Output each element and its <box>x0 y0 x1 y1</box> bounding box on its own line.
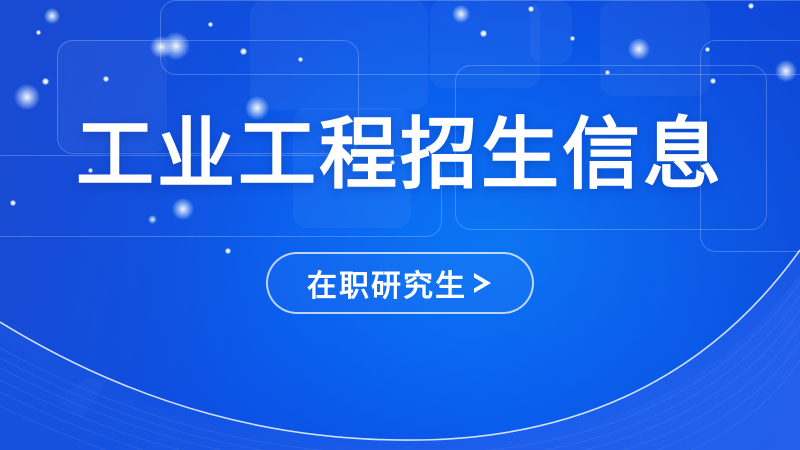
glow-dot <box>452 5 470 23</box>
cta-button-label: 在职研究生 <box>307 261 467 305</box>
glow-dot <box>148 215 157 224</box>
cta-button[interactable]: 在职研究生 <box>266 252 534 314</box>
glow-dot <box>775 60 797 82</box>
glow-dot <box>628 38 650 60</box>
arrow-right-icon <box>471 270 493 296</box>
glow-dot <box>103 76 109 82</box>
glow-dot <box>10 200 16 206</box>
page-title: 工业工程招生信息 <box>0 112 800 198</box>
glow-dot <box>605 70 610 75</box>
glow-dot <box>172 198 194 220</box>
glow-dot <box>570 36 575 41</box>
glow-dot <box>298 57 303 62</box>
glow-dot <box>710 78 716 84</box>
glow-dot <box>748 3 754 9</box>
glow-dot <box>240 48 247 55</box>
glow-dot <box>528 6 534 12</box>
glow-dot <box>162 32 190 60</box>
glow-dot <box>44 8 60 24</box>
banner-root: 工业工程招生信息 在职研究生 <box>0 0 800 450</box>
glow-dot <box>480 30 487 37</box>
glow-dot <box>42 78 49 85</box>
glow-dot <box>14 84 40 110</box>
glow-dot <box>36 30 41 35</box>
glow-dot <box>705 47 710 52</box>
glow-dot <box>208 22 213 27</box>
